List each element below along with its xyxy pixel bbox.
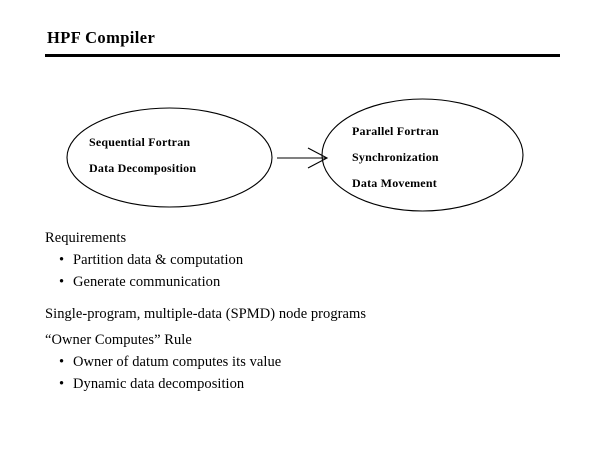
list-item-label: Generate communication (73, 274, 220, 290)
parallel-fortran-label-line-1: Parallel Fortran (352, 124, 439, 139)
list-item: • Partition data & computation (45, 253, 565, 268)
list-item-label: Owner of datum computes its value (73, 354, 281, 370)
bullet-icon: • (59, 275, 64, 290)
bullet-icon: • (59, 377, 64, 392)
arrow-head-icon (308, 148, 327, 168)
sequential-fortran-ellipse (67, 108, 272, 207)
list-item: • Generate communication (45, 275, 565, 290)
list-item: • Dynamic data decomposition (45, 377, 565, 392)
requirements-heading: Requirements (45, 231, 565, 246)
spmd-line: Single-program, multiple-data (SPMD) nod… (45, 307, 565, 322)
parallel-fortran-label-line-3: Data Movement (352, 176, 437, 191)
title-divider (45, 54, 560, 57)
slide-canvas: HPF Compiler Sequential Fortran Data Dec… (0, 0, 605, 467)
bullet-icon: • (59, 355, 64, 370)
sequential-fortran-label-line-2: Data Decomposition (89, 161, 196, 176)
requirements-list: • Partition data & computation • Generat… (45, 253, 565, 290)
list-item: • Owner of datum computes its value (45, 355, 565, 370)
sequential-fortran-label-line-1: Sequential Fortran (89, 135, 190, 150)
page-title: HPF Compiler (47, 28, 155, 48)
slide-body: Requirements • Partition data & computat… (45, 231, 565, 401)
list-item-label: Dynamic data decomposition (73, 376, 244, 392)
bullet-icon: • (59, 253, 64, 268)
owner-computes-heading: “Owner Computes” Rule (45, 333, 565, 348)
owner-computes-list: • Owner of datum computes its value • Dy… (45, 355, 565, 392)
list-item-label: Partition data & computation (73, 252, 243, 268)
parallel-fortran-label-line-2: Synchronization (352, 150, 439, 165)
